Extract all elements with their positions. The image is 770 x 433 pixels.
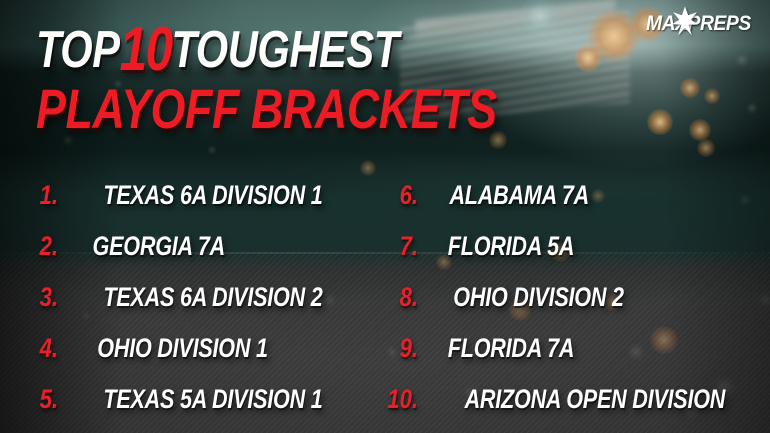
list-item[interactable]: 9.FLORIDA 7A — [0, 333, 770, 367]
list-item[interactable]: 6.ALABAMA 7A — [0, 180, 770, 214]
list-item-label: FLORIDA 5A — [448, 231, 574, 262]
list-item-label: ALABAMA 7A — [449, 180, 589, 211]
list-item[interactable]: 8.OHIO DIVISION 2 — [0, 282, 770, 316]
list-item-label: OHIO DIVISION 2 — [453, 282, 623, 313]
maxpreps-wordmark: MAXPREPS — [646, 12, 751, 36]
x-star-icon — [672, 6, 698, 38]
ranked-list: 1.TEXAS 6A DIVISION 12.GEORGIA 7A3.TEXAS… — [0, 0, 770, 433]
list-item[interactable]: 7.FLORIDA 5A — [0, 231, 770, 265]
list-item[interactable]: 10.ARIZONA OPEN DIVISION — [0, 384, 770, 418]
list-item-rank: 9. — [382, 333, 418, 364]
graphic-canvas: MAXPREPS TOP10TOUGHEST PLAYOFF BRACKETS … — [0, 0, 770, 433]
list-item-rank: 6. — [382, 180, 418, 211]
list-item-rank: 7. — [382, 231, 418, 262]
list-item-rank: 8. — [382, 282, 418, 313]
maxpreps-logo[interactable]: MAXPREPS — [646, 8, 754, 38]
list-item-label: ARIZONA OPEN DIVISION — [465, 384, 726, 415]
list-item-label: FLORIDA 7A — [448, 333, 574, 364]
list-item-rank: 10. — [382, 384, 418, 415]
